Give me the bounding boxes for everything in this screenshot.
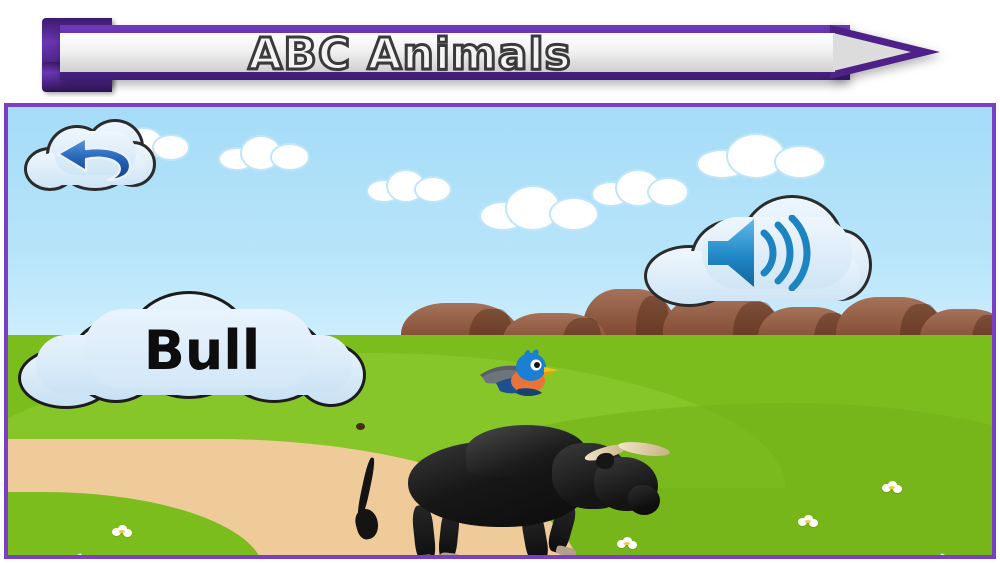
flying-blue-bird (478, 343, 562, 405)
page-title: ABC Animals (150, 24, 670, 84)
back-button[interactable] (24, 117, 158, 193)
game-frame: Bull (4, 103, 996, 559)
cloud-decor-2 (368, 169, 454, 201)
flower-3 (798, 515, 818, 529)
flower-4 (882, 481, 902, 495)
undo-arrow-icon (50, 133, 140, 183)
speaker-icon (702, 215, 842, 291)
arrow-right-curved-icon (870, 551, 992, 555)
bull-illustration (356, 423, 676, 555)
flower-1 (112, 525, 132, 539)
arrow-left-curved-icon (30, 551, 162, 555)
word-cloud: Bull (18, 289, 368, 411)
next-button[interactable] (870, 551, 992, 555)
app-root: ABC Animals (0, 0, 1000, 563)
animal-name-label: Bull (18, 289, 368, 411)
cloud-decor-3 (481, 185, 601, 229)
banner-face-point (833, 33, 911, 71)
previous-button[interactable] (30, 551, 162, 555)
cloud-decor-5 (698, 133, 828, 177)
title-banner: ABC Animals (0, 0, 1000, 100)
cloud-decor-1 (220, 135, 312, 169)
scene: Bull (8, 107, 992, 555)
sound-button[interactable] (644, 193, 874, 311)
